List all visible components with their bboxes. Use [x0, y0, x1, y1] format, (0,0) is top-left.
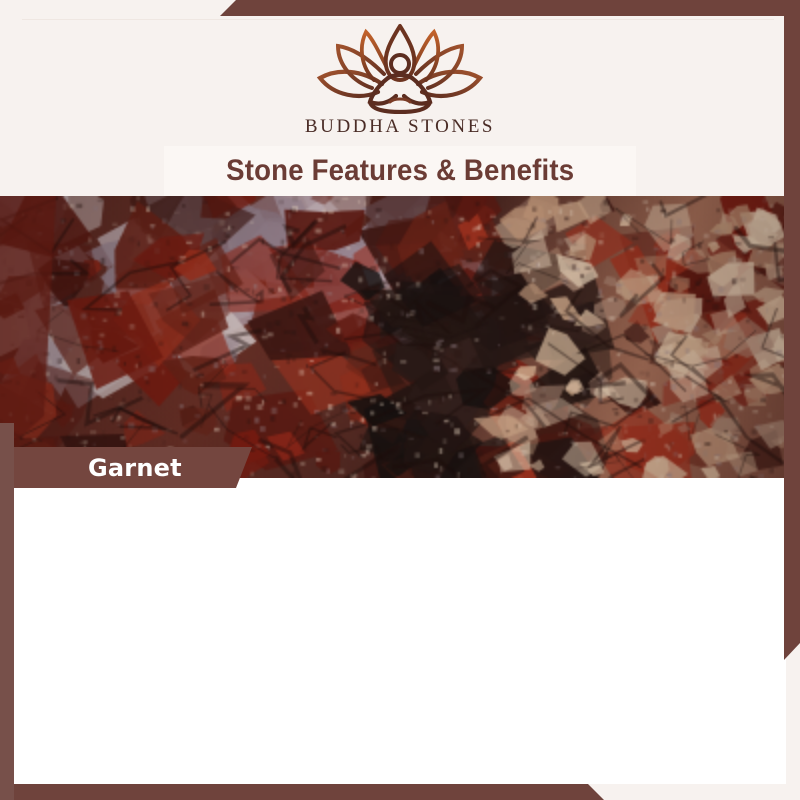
- frame-band-right: [784, 0, 800, 660]
- stone-photo-canvas: [0, 196, 800, 478]
- stone-name-label: Garnet: [88, 454, 182, 482]
- lotus-meditation-icon: [310, 22, 490, 114]
- brand-name: BUDDHA STONES: [0, 116, 800, 138]
- stone-photo: [0, 196, 800, 478]
- infographic-page: BUDDHA STONES Stone Features & Benefits …: [0, 0, 800, 800]
- frame-band-bottom: [0, 784, 800, 800]
- frame-band-left: [0, 423, 14, 800]
- inner-hairline: [22, 19, 774, 20]
- page-title: Stone Features & Benefits: [226, 154, 574, 188]
- title-banner: Stone Features & Benefits: [164, 146, 636, 196]
- stone-name-ribbon: Garnet: [0, 447, 252, 488]
- brand-logo: BUDDHA STONES: [0, 22, 800, 138]
- content-panel: [14, 478, 786, 784]
